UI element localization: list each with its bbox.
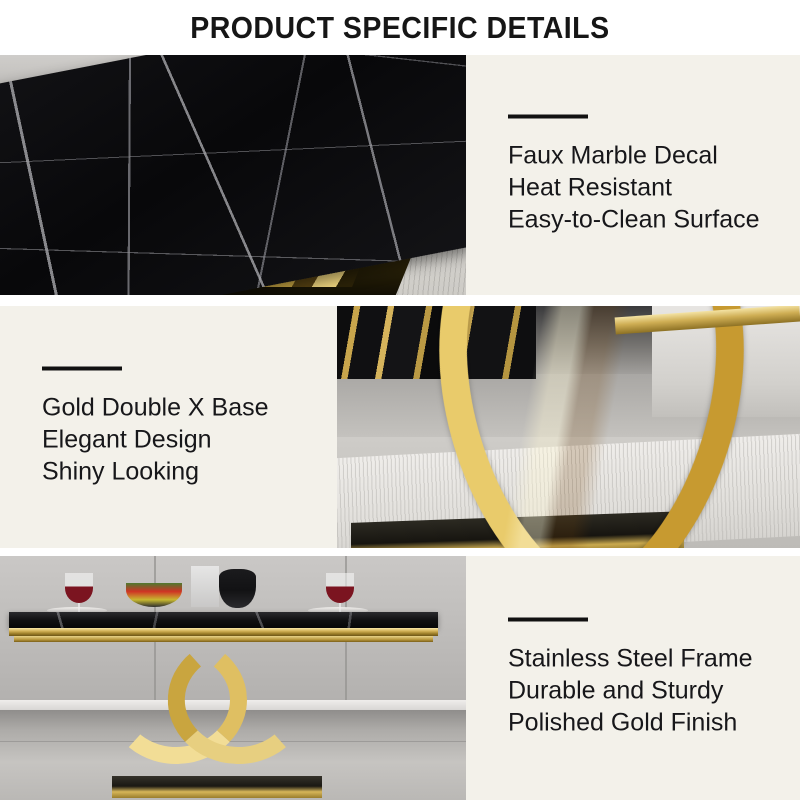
feature-line: Shiny Looking [42,456,269,488]
feature-panel-marble-top: Faux Marble Decal Heat Resistant Easy-to… [0,55,800,295]
feature-line: Elegant Design [42,424,269,456]
base-plinth [112,776,322,798]
feature-line: Stainless Steel Frame [508,643,753,675]
gold-double-x-base-photo [337,306,800,548]
marble-tabletop-surface [0,55,466,295]
glass-vase [191,566,219,607]
divider-rule [508,115,588,119]
divider-rule [508,618,588,622]
feature-line: Heat Resistant [508,172,760,204]
feature-text-column: Gold Double X Base Elegant Design Shiny … [0,306,337,548]
feature-list: Faux Marble Decal Heat Resistant Easy-to… [508,115,760,236]
styled-console-table-photo [0,556,466,800]
divider-rule [42,367,122,371]
feature-text-column: Faux Marble Decal Heat Resistant Easy-to… [466,55,800,295]
feature-list: Gold Double X Base Elegant Design Shiny … [42,367,269,488]
feature-line: Gold Double X Base [42,392,269,424]
feature-panel-full-table: Stainless Steel Frame Durable and Sturdy… [0,556,800,800]
page-header: PRODUCT SPECIFIC DETAILS [0,0,800,55]
feature-line: Easy-to-Clean Surface [508,204,760,236]
feature-panel-gold-x-base: Gold Double X Base Elegant Design Shiny … [0,306,800,548]
marble-veining [0,55,466,295]
feature-text-column: Stainless Steel Frame Durable and Sturdy… [466,556,800,800]
marble-tabletop-surface [9,612,438,628]
feature-line: Faux Marble Decal [508,140,760,172]
feature-list: Stainless Steel Frame Durable and Sturdy… [508,618,753,739]
gold-arc-right [165,633,311,767]
black-faux-marble-tabletop-photo [0,55,466,295]
page-title: PRODUCT SPECIFIC DETAILS [190,10,609,46]
feature-line: Polished Gold Finish [508,707,753,739]
feature-line: Durable and Sturdy [508,675,753,707]
